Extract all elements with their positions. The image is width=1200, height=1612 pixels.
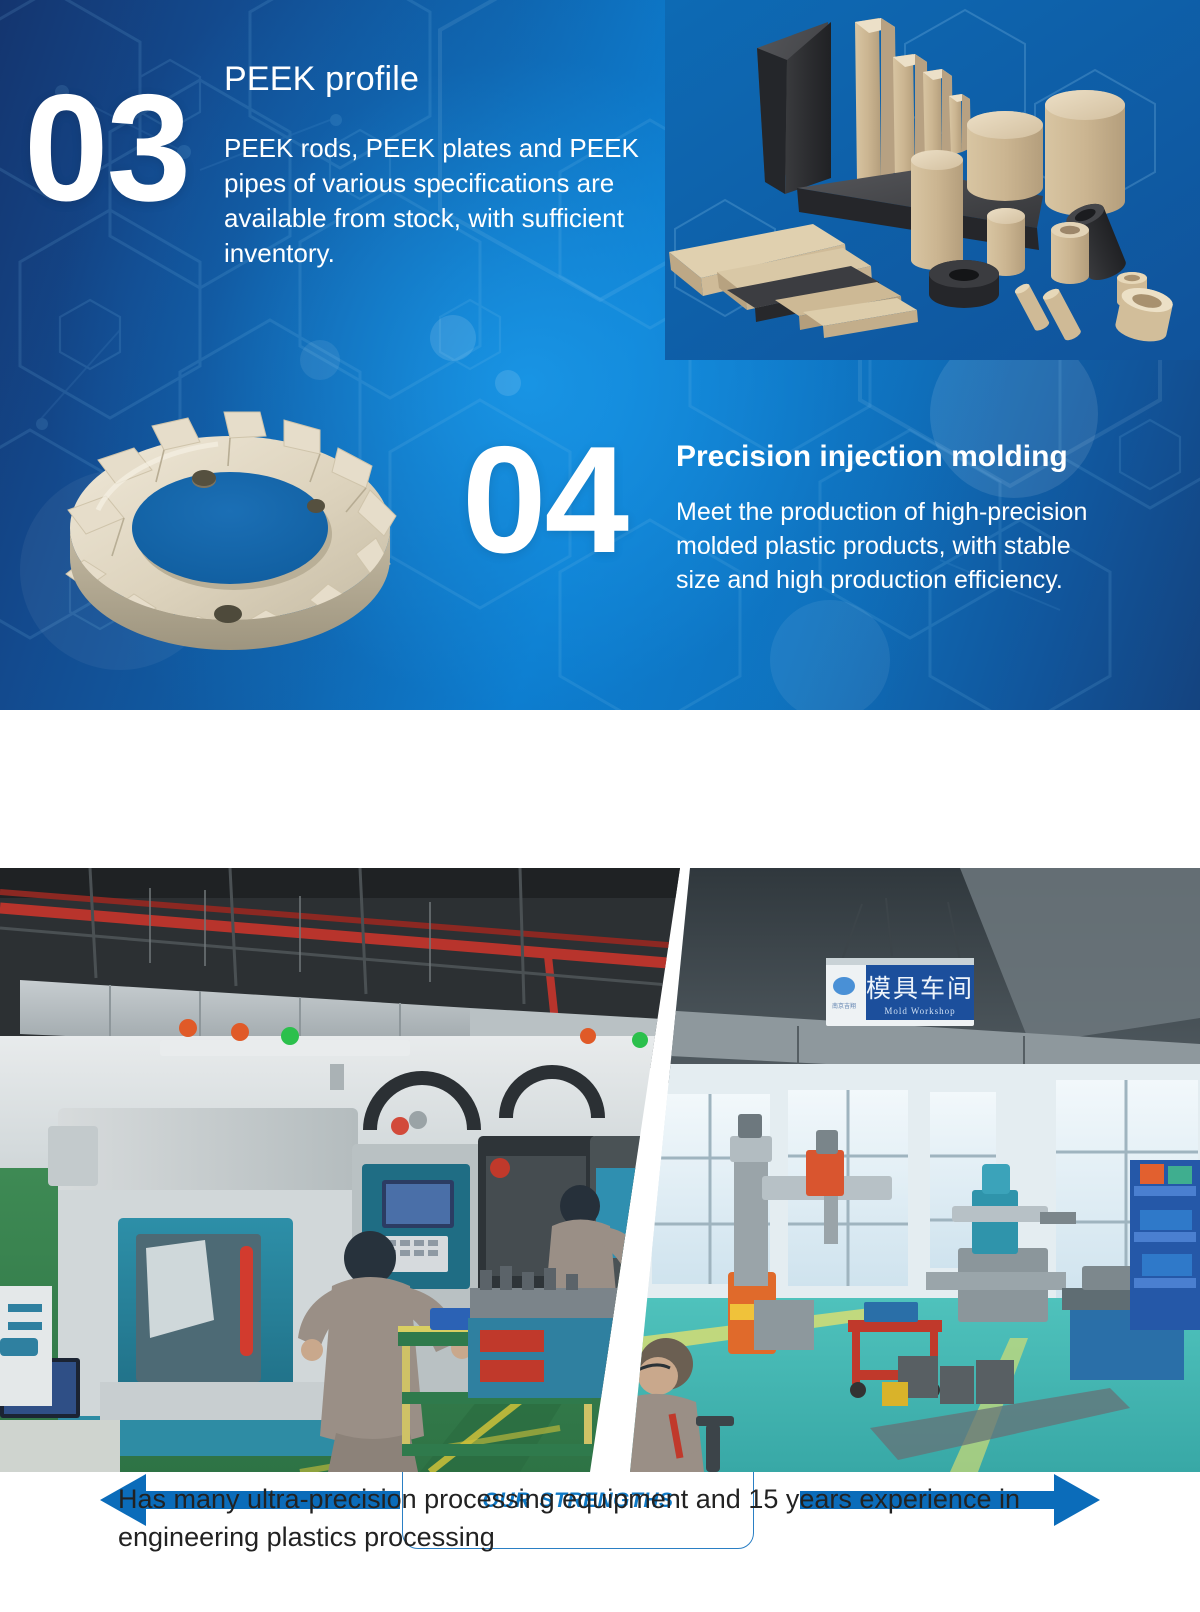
page-caption: Has many ultra-precision processing equi… — [0, 1480, 1200, 1557]
workshop-photo-strip: 模具车间 Mold Workshop 南京吉翔 — [0, 868, 1200, 1472]
feature-body-03: PEEK rods, PEEK plates and PEEK pipes of… — [224, 131, 654, 271]
mold-workshop-photo: 模具车间 Mold Workshop 南京吉翔 — [630, 868, 1200, 1472]
cnc-machining-workshop-photo — [0, 868, 680, 1472]
peek-black-block — [757, 22, 831, 194]
bokeh-circle — [770, 600, 890, 710]
strengths-banner: Our strengths — [0, 710, 1200, 868]
feature-panel: 03 PEEK profile PEEK rods, PEEK plates a… — [0, 0, 1200, 710]
feature-title-03: PEEK profile — [224, 60, 419, 99]
feature-number-03: 03 — [24, 72, 189, 224]
feature-number-04: 04 — [462, 424, 627, 576]
storage-rack — [1130, 1160, 1200, 1330]
bokeh-circle — [430, 315, 476, 361]
sign-logo-text: 南京吉翔 — [832, 1002, 856, 1010]
sign-text-en: Mold Workshop — [884, 1006, 955, 1016]
bokeh-circle — [495, 370, 521, 396]
feature-title-04: Precision injection molding — [676, 440, 1068, 474]
peek-beige-tube — [1051, 222, 1089, 284]
peek-profile-products-photo — [665, 0, 1200, 360]
peek-gear-ring-photo — [28, 378, 428, 678]
peek-black-ring — [929, 260, 999, 308]
feature-body-04: Meet the production of high-precision mo… — [676, 495, 1116, 597]
sign-text-cn: 模具车间 — [866, 974, 974, 1003]
bokeh-circle — [300, 340, 340, 380]
product-feature-page: 03 PEEK profile PEEK rods, PEEK plates a… — [0, 0, 1200, 1612]
